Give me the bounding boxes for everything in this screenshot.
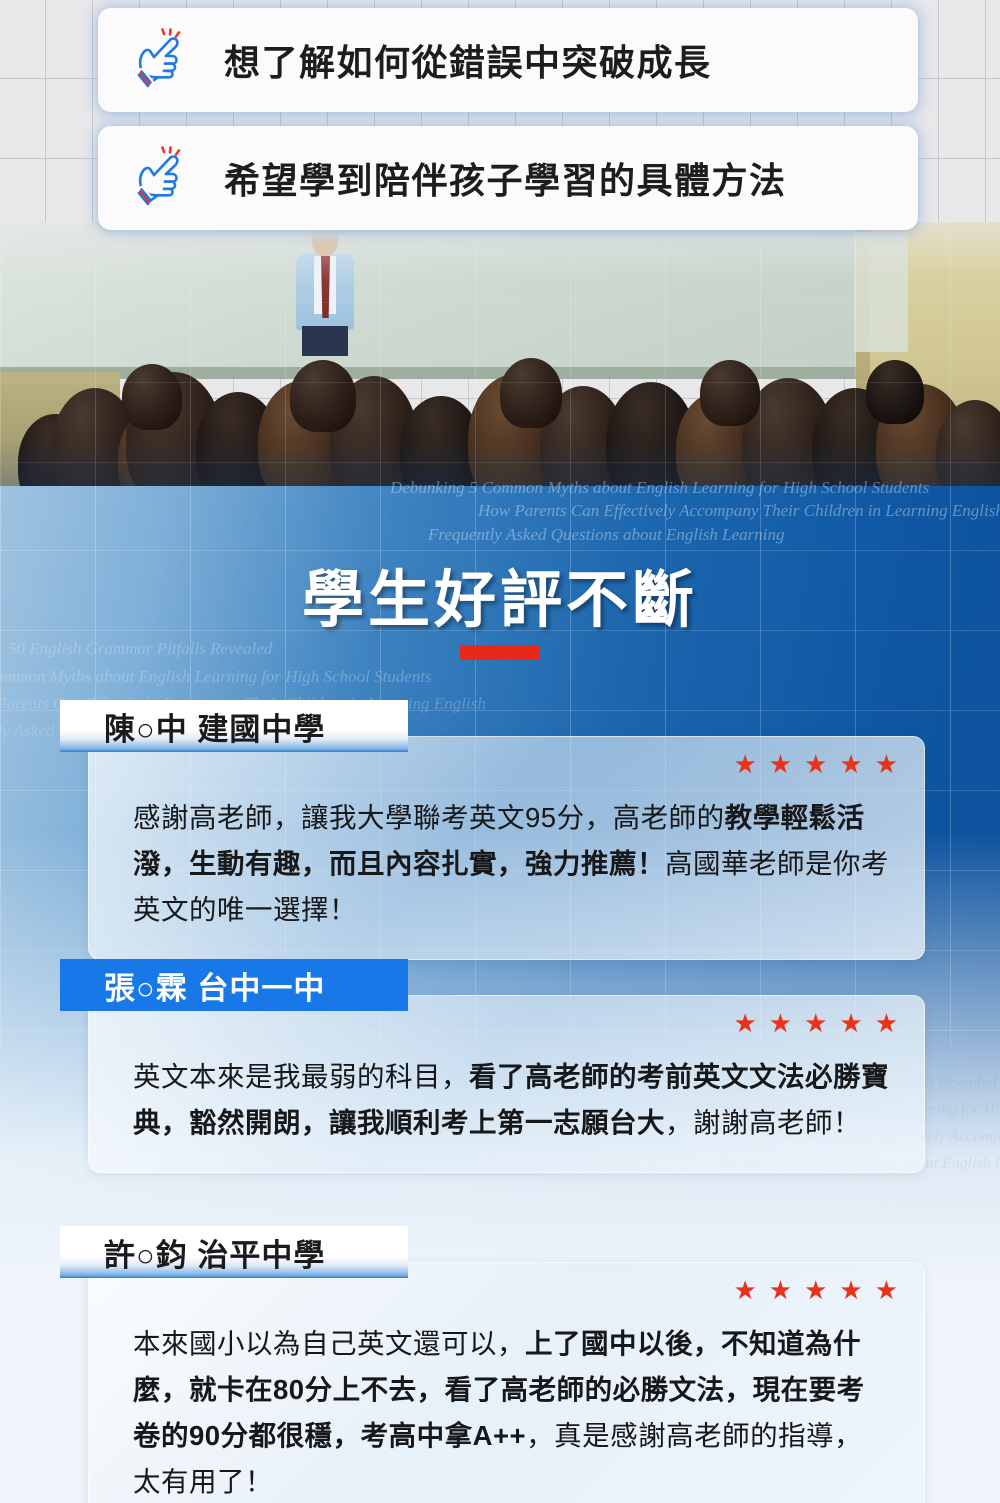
testimonial-header: 張○霖 台中一中 [60, 959, 408, 1011]
star-icon: ★ [769, 751, 792, 777]
callout-card-1[interactable]: 想了解如何從錯誤中突破成長 [98, 8, 918, 112]
section-title: 學生好評不斷 [0, 549, 1000, 639]
testimonial-name: 陳○中 建國中學 [104, 704, 325, 749]
star-icon: ★ [733, 751, 756, 777]
quote-segment: 英文本來是我最弱的科目， [133, 1061, 469, 1092]
quote-segment: 本來國小以為自己英文還可以， [133, 1328, 525, 1359]
quote-segment: ，謝謝高老師！ [665, 1107, 861, 1138]
testimonial-header: 陳○中 建國中學 [60, 700, 408, 752]
callout-label: 希望學到陪伴孩子學習的具體方法 [224, 152, 787, 204]
testimonial-quote: 英文本來是我最弱的科目，看了高老師的考前英文文法必勝寶典，豁然開朗，讓我順利考上… [133, 1054, 890, 1146]
star-icon: ★ [804, 1010, 827, 1036]
star-icon: ★ [875, 1010, 898, 1036]
hero-section: 想了解如何從錯誤中突破成長 [0, 0, 1000, 486]
star-icon: ★ [839, 1010, 862, 1036]
testimonial-body: ★ ★ ★ ★ ★ 感謝高老師，讓我大學聯考英文95分，高老師的教學輕鬆活潑，生… [88, 736, 925, 960]
testimonial-name: 許○鈞 治平中學 [104, 1230, 325, 1275]
star-icon: ★ [769, 1277, 792, 1303]
testimonial-header: 許○鈞 治平中學 [60, 1226, 408, 1278]
title-underline-bar [460, 645, 540, 660]
rating-stars: ★ ★ ★ ★ ★ [733, 1277, 898, 1303]
testimonial-quote: 感謝高老師，讓我大學聯考英文95分，高老師的教學輕鬆活潑，生動有趣，而且內容扎實… [133, 795, 890, 933]
callout-card-2[interactable]: 希望學到陪伴孩子學習的具體方法 [98, 126, 918, 230]
landing-page: 想了解如何從錯誤中突破成長 [0, 0, 1000, 1503]
star-icon: ★ [769, 1010, 792, 1036]
star-icon: ★ [733, 1010, 756, 1036]
star-icon: ★ [875, 751, 898, 777]
star-icon: ★ [839, 751, 862, 777]
star-icon: ★ [733, 1277, 756, 1303]
star-icon: ★ [839, 1277, 862, 1303]
rating-stars: ★ ★ ★ ★ ★ [733, 1010, 898, 1036]
testimonial-quote: 本來國小以為自己英文還可以，上了國中以後，不知道為什麼，就卡在80分上不去，看了… [133, 1321, 890, 1503]
star-icon: ★ [875, 1277, 898, 1303]
star-icon: ★ [804, 1277, 827, 1303]
star-icon: ★ [804, 751, 827, 777]
photo-fade-overlay [0, 222, 1000, 486]
classroom-photo [0, 222, 1000, 486]
callout-label: 想了解如何從錯誤中突破成長 [224, 34, 712, 86]
testimonial-name: 張○霖 台中一中 [104, 963, 325, 1008]
quote-segment: 感謝高老師，讓我大學聯考英文95分，高老師的 [133, 802, 725, 833]
testimonial-body: ★ ★ ★ ★ ★ 本來國小以為自己英文還可以，上了國中以後，不知道為什麼，就卡… [88, 1262, 925, 1503]
testimonial-body: ★ ★ ★ ★ ★ 英文本來是我最弱的科目，看了高老師的考前英文文法必勝寶典，豁… [88, 995, 925, 1173]
rating-stars: ★ ★ ★ ★ ★ [733, 751, 898, 777]
pointing-hand-icon [128, 28, 186, 92]
pointing-hand-icon [128, 146, 186, 210]
